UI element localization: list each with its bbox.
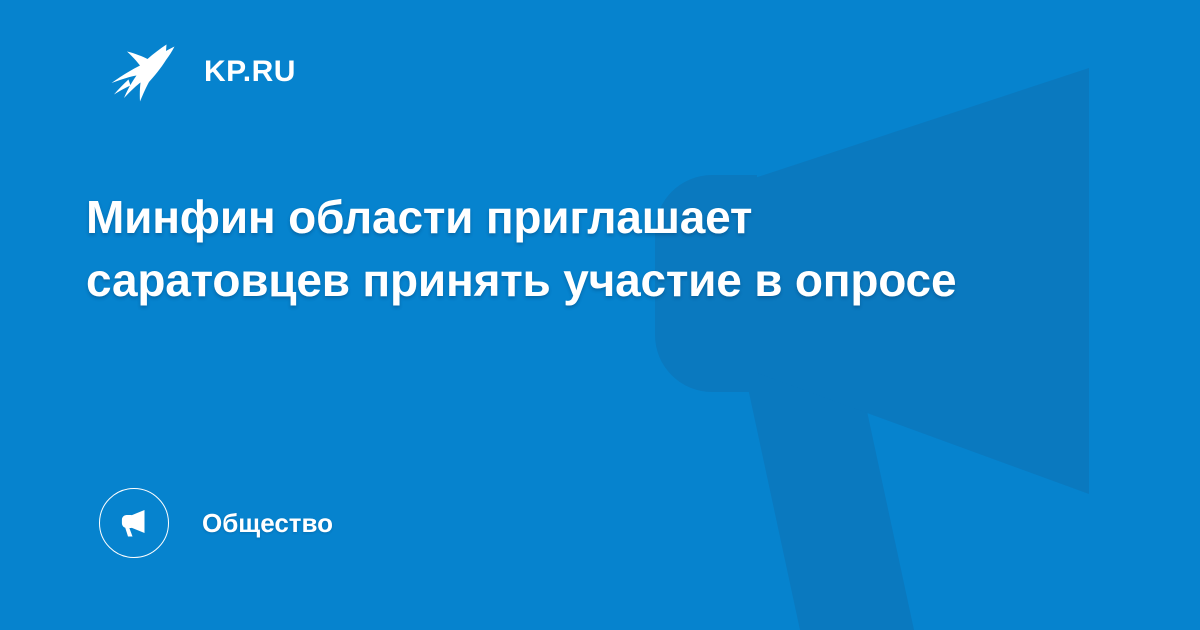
- share-card: KP.RU Минфин области приглашает саратовц…: [0, 0, 1200, 630]
- page-title: Минфин области приглашает саратовцев при…: [86, 186, 986, 312]
- category-icon-circle: [99, 488, 169, 558]
- category-label: Общество: [202, 510, 333, 536]
- category-badge[interactable]: Общество: [99, 487, 333, 559]
- megaphone-icon: [117, 506, 151, 540]
- brand-name: KP.RU: [204, 57, 296, 87]
- brand-logo[interactable]: KP.RU: [108, 36, 296, 108]
- swallow-bird-icon: [108, 36, 180, 108]
